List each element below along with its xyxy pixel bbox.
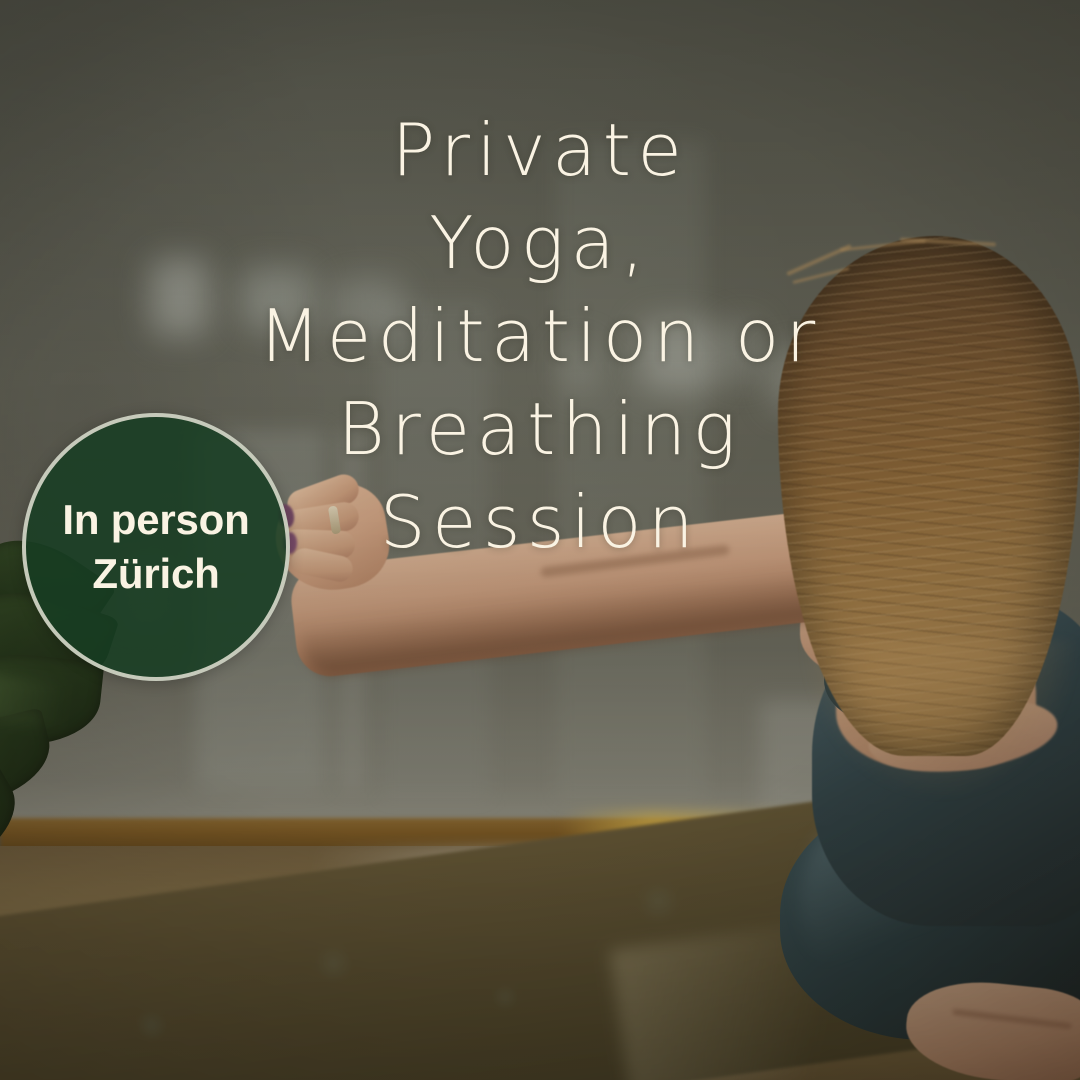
poster-canvas: Private Yoga, Meditation or Breathing Se… bbox=[0, 0, 1080, 1080]
badge-line-city: Zürich bbox=[92, 547, 219, 601]
location-badge[interactable]: In person Zürich bbox=[22, 413, 290, 681]
badge-line-format: In person bbox=[62, 493, 249, 547]
